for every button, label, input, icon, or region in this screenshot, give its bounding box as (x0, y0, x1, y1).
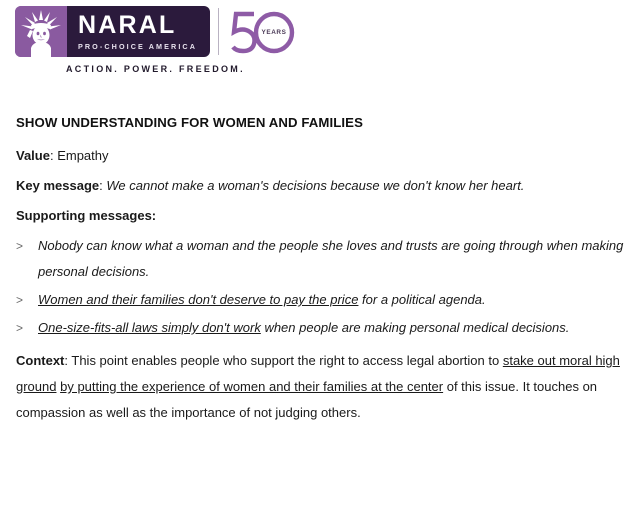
list-item-text: Women and their families don't deserve t… (38, 287, 630, 313)
list-item-plain: for a political agenda. (358, 292, 485, 307)
context-paragraph: Context: This point enables people who s… (16, 348, 630, 426)
logo-divider (218, 8, 219, 55)
brand-tagline: ACTION. POWER. FREEDOM. (66, 64, 245, 74)
key-message-text: We cannot make a woman's decisions becau… (106, 178, 524, 193)
list-item-text: Nobody can know what a woman and the peo… (38, 233, 630, 285)
page-header: NARAL PRO-CHOICE AMERICA YEARS ACTION. P… (0, 0, 640, 92)
brand-subtitle: PRO-CHOICE AMERICA (78, 43, 197, 50)
context-underlined-2: by putting the experience of women and t… (60, 379, 443, 394)
chevron-right-bullet-icon: > (16, 287, 38, 313)
list-item-plain: when people are making personal medical … (261, 320, 570, 335)
supporting-messages-heading: Supporting messages: (16, 208, 156, 223)
anniversary-years-label: YEARS (261, 29, 286, 36)
value-label: Value (16, 148, 50, 163)
list-item: > Women and their families don't deserve… (16, 287, 630, 313)
list-item-underlined: One-size-fits-all laws simply don't work (38, 320, 261, 335)
key-message-line: Key message: We cannot make a woman's de… (16, 173, 630, 199)
naral-wordmark-panel: NARAL PRO-CHOICE AMERICA (67, 6, 210, 57)
context-part-1: This point enables people who support th… (71, 353, 502, 368)
value-text: Empathy (57, 148, 108, 163)
chevron-right-bullet-icon: > (16, 315, 38, 341)
supporting-messages-list: > Nobody can know what a woman and the p… (16, 233, 630, 341)
anniversary-50-years-icon: YEARS (227, 6, 299, 57)
page-title: SHOW UNDERSTANDING FOR WOMEN AND FAMILIE… (16, 115, 630, 130)
list-item: > One-size-fits-all laws simply don't wo… (16, 315, 630, 341)
key-message-label: Key message (16, 178, 99, 193)
value-line: Value: Empathy (16, 143, 630, 169)
list-item-plain: Nobody can know what a woman and the peo… (38, 238, 623, 279)
list-item-underlined: Women and their families don't deserve t… (38, 292, 358, 307)
brand-name: NARAL (78, 13, 197, 38)
list-item: > Nobody can know what a woman and the p… (16, 233, 630, 285)
naral-logo-lockup: NARAL PRO-CHOICE AMERICA YEARS (15, 6, 299, 57)
chevron-right-bullet-icon: > (16, 233, 38, 285)
context-label: Context (16, 353, 64, 368)
statue-of-liberty-icon (15, 6, 67, 57)
supporting-messages-label: Supporting messages: (16, 203, 630, 229)
document-content: SHOW UNDERSTANDING FOR WOMEN AND FAMILIE… (16, 115, 630, 426)
naral-logo-block: NARAL PRO-CHOICE AMERICA (15, 6, 210, 57)
list-item-text: One-size-fits-all laws simply don't work… (38, 315, 630, 341)
